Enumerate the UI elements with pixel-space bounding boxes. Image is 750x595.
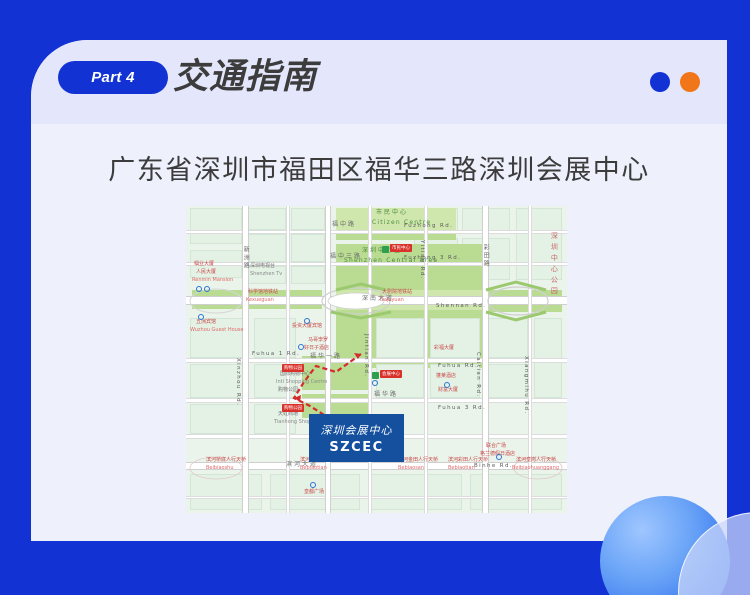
poi-penglai-cn: 蓬莱酒店 bbox=[436, 374, 456, 379]
page-title: 交通指南 bbox=[173, 54, 317, 100]
poi-sztv-en: Shenzhen Tv bbox=[250, 272, 282, 277]
road-label-fuhua-1-cn: 福华一路 bbox=[310, 354, 342, 360]
ped-bebiaotian2-cn: 滨河彩田人行天桥 bbox=[448, 458, 488, 463]
poi-intl-en: Intl Shopping Centre bbox=[276, 380, 327, 385]
ped-huanggang-cn: 滨河皇岗人行天桥 bbox=[516, 458, 556, 463]
metro-marker-icon[interactable] bbox=[310, 482, 316, 488]
poi-wuzhou-en: Wuzhou Guest House bbox=[190, 328, 244, 333]
part-badge: Part 4 bbox=[58, 61, 168, 94]
poi-tianhong-cn: 天虹商场 bbox=[278, 412, 298, 417]
chip-tianhong: 购物公园 bbox=[282, 404, 304, 412]
chip-intl-shopping: 购物公园 bbox=[282, 364, 304, 372]
poi-touzi-cn: 投资大厦宾馆 bbox=[292, 324, 322, 329]
dot-blue-icon bbox=[650, 72, 670, 92]
area-label-central-park: 深圳中心公园 bbox=[550, 232, 557, 298]
poi-haorizi-cn: 好日子酒店 bbox=[304, 346, 329, 351]
road-label-xiangmihu: Xiangmihu Rd. bbox=[522, 356, 528, 415]
poi-intl-cn: 国际购物中心 bbox=[280, 372, 310, 377]
header-dots bbox=[650, 72, 700, 92]
ped-bebiaosan-cn: 滨河金田人行天桥 bbox=[398, 458, 438, 463]
poi-marco-cn: 马哥孛罗 bbox=[308, 338, 328, 343]
road-label-caitian-cn: 彩田路 bbox=[482, 244, 488, 268]
road-label-caitian: Caitian Rd. bbox=[474, 352, 480, 398]
map-canvas: 市民中心 Citizen Centre 深圳中心区 Shenzhen Centr… bbox=[186, 206, 567, 513]
road-label-fuhua-3: Fuhua 3 Rd. bbox=[438, 406, 486, 412]
area-label-citizen-centre-cn: 市民中心 bbox=[376, 210, 408, 216]
poi-guoye-cn: 帼业大厦 bbox=[194, 262, 214, 267]
road-label-fuzhong-3-cn: 福中三路 bbox=[330, 254, 362, 260]
ped-bebiaosan-en: Bebiaosan bbox=[398, 466, 424, 471]
szcec-logo-cn: 深圳会展中心 bbox=[321, 422, 393, 438]
metro-green-marker-icon[interactable] bbox=[372, 372, 379, 379]
road-label-fuzhong-cn: 福中路 bbox=[332, 222, 356, 228]
card-header: Part 4 交通指南 bbox=[31, 40, 727, 124]
venue-map[interactable]: 市民中心 Citizen Centre 深圳中心区 Shenzhen Centr… bbox=[186, 206, 567, 513]
ped-huanggang-en: Beibiaohuanggang bbox=[512, 466, 559, 471]
road-label-shennan: Shennan Rd. bbox=[436, 304, 486, 310]
chip-citizen-centre: 市民中心 bbox=[390, 244, 412, 252]
poi-renmin-cn: 人民大厦 bbox=[196, 270, 216, 275]
metro-marker-icon[interactable] bbox=[298, 344, 304, 350]
chip-convention-centre: 会展中心 bbox=[380, 370, 402, 378]
poi-lianhe-cn: 联合广场 bbox=[486, 444, 506, 449]
poi-shopping-park-cn: 购物公园 bbox=[278, 388, 298, 393]
metro-dajuyuan-cn: 大剧院地铁站 bbox=[382, 290, 412, 295]
road-label-xinzhou-cn: 新洲路 bbox=[242, 246, 248, 270]
poi-caifu-cn: 财富大厦 bbox=[438, 388, 458, 393]
ped-beibiaoshu-en: Beibiaoshu bbox=[206, 466, 234, 471]
metro-marker-icon[interactable] bbox=[372, 380, 378, 386]
road-label-fuzhong: Fuzhong Rd. bbox=[404, 224, 453, 230]
road-label-xinzhou: Xinzhou Rd. bbox=[234, 358, 240, 406]
road-label-fuhua: Fuhua Rd. bbox=[438, 364, 478, 370]
metro-marker-icon[interactable] bbox=[496, 454, 502, 460]
metro-dajuyuan-en: Dajuyuan bbox=[380, 298, 404, 303]
poi-sztv-cn: 深圳电视台 bbox=[250, 264, 275, 269]
road-label-yitian: Yitian Rd. bbox=[418, 240, 424, 280]
venue-address: 广东省深圳市福田区福华三路深圳会展中心 bbox=[31, 148, 727, 187]
metro-marker-icon[interactable] bbox=[304, 318, 310, 324]
poi-caifu-building-cn: 彩福大厦 bbox=[434, 346, 454, 351]
road-label-jintian: Jintian Rd. bbox=[362, 334, 368, 377]
content-card: Part 4 交通指南 广东省深圳市福田区福华三路深圳会展中心 bbox=[31, 40, 727, 541]
road-label-fuhua-1: Fuhua 1 Rd. bbox=[252, 352, 300, 358]
szcec-venue-logo: 深圳会展中心 SZCEC bbox=[309, 414, 404, 462]
metro-green-marker-icon[interactable] bbox=[382, 246, 389, 253]
road-label-fuhua-cn: 福华路 bbox=[374, 392, 398, 398]
road-label-binhe: Binhe Rd. bbox=[474, 464, 513, 470]
metro-marker-icon[interactable] bbox=[198, 314, 204, 320]
poi-renmin-en: Renmin Mansion bbox=[192, 278, 233, 283]
szcec-logo-en: SZCEC bbox=[329, 440, 383, 455]
ped-beibiaoshu-cn: 滨河桥底人行天桥 bbox=[206, 458, 246, 463]
poi-huangdu-cn: 皇都广场 bbox=[304, 490, 324, 495]
poi-wuzhou-cn: 五洲宾馆 bbox=[196, 320, 216, 325]
ped-bebiaotian2-en: Bebiaotian bbox=[448, 466, 475, 471]
road-label-fuzhong-3: Fuzhong 3 Rd. bbox=[404, 256, 461, 262]
dot-orange-icon bbox=[680, 72, 700, 92]
metro-marker-icon[interactable] bbox=[196, 286, 202, 292]
metro-marker-icon[interactable] bbox=[204, 286, 210, 292]
metro-kexueguan-en: Kexueguan bbox=[246, 298, 274, 303]
metro-marker-icon[interactable] bbox=[444, 382, 450, 388]
metro-kexueguan-cn: 科学馆地铁站 bbox=[248, 290, 278, 295]
ped-bebiaotian-en: Bebiaotian bbox=[300, 466, 327, 471]
